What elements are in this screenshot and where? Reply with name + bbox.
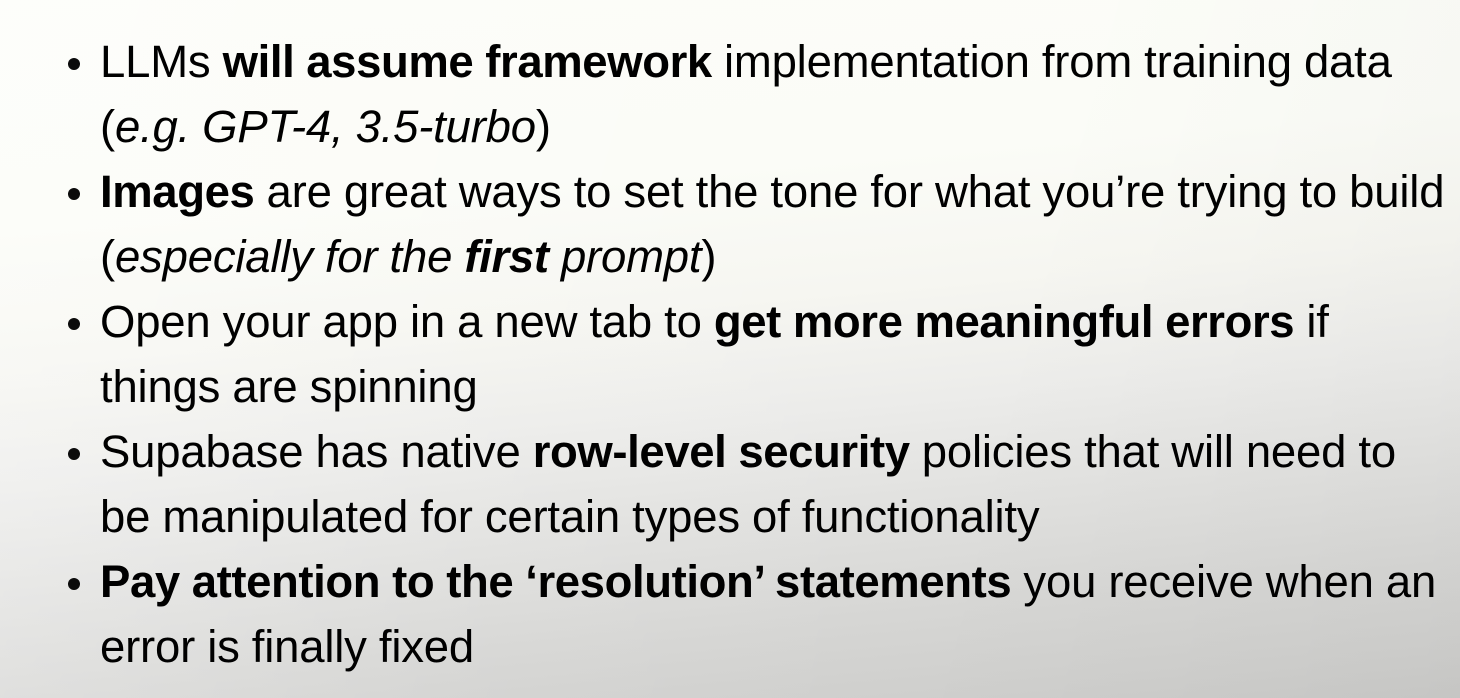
bullet-list: LLMs will assume framework implementatio… — [0, 0, 1460, 679]
text-run: ) — [701, 231, 716, 282]
bullet-point-icon — [68, 318, 80, 330]
bullet-point-icon — [68, 58, 80, 70]
text-run: e.g. GPT-4, 3.5-turbo — [115, 101, 536, 152]
text-run: Open your app in a new tab to — [100, 296, 714, 347]
bullet-text: Supabase has native row-level security p… — [100, 420, 1448, 549]
text-run: ) — [536, 101, 551, 152]
bullet-point-icon — [68, 578, 80, 590]
bullet-point-icon — [68, 188, 80, 200]
text-run: will assume framework — [223, 36, 712, 87]
bullet-text: Open your app in a new tab to get more m… — [100, 290, 1448, 419]
text-run: Images — [100, 166, 254, 217]
list-item: Pay attention to the ‘resolution’ statem… — [0, 550, 1448, 679]
bullet-text: Pay attention to the ‘resolution’ statem… — [100, 550, 1448, 679]
bullet-text: LLMs will assume framework implementatio… — [100, 30, 1448, 159]
list-item: LLMs will assume framework implementatio… — [0, 30, 1448, 159]
bullet-point-icon — [68, 448, 80, 460]
text-run: Pay attention to the ‘resolution’ statem… — [100, 556, 1011, 607]
text-run: row-level security — [533, 426, 910, 477]
text-run: Supabase has native — [100, 426, 533, 477]
list-item: Supabase has native row-level security p… — [0, 420, 1448, 549]
text-run: first — [464, 231, 548, 282]
list-item: Images are great ways to set the tone fo… — [0, 160, 1448, 289]
list-item: Open your app in a new tab to get more m… — [0, 290, 1448, 419]
text-run: LLMs — [100, 36, 223, 87]
text-run: get more meaningful errors — [714, 296, 1294, 347]
slide-canvas: LLMs will assume framework implementatio… — [0, 0, 1460, 698]
text-run: especially for the — [115, 231, 464, 282]
text-run: prompt — [549, 231, 702, 282]
bullet-text: Images are great ways to set the tone fo… — [100, 160, 1448, 289]
